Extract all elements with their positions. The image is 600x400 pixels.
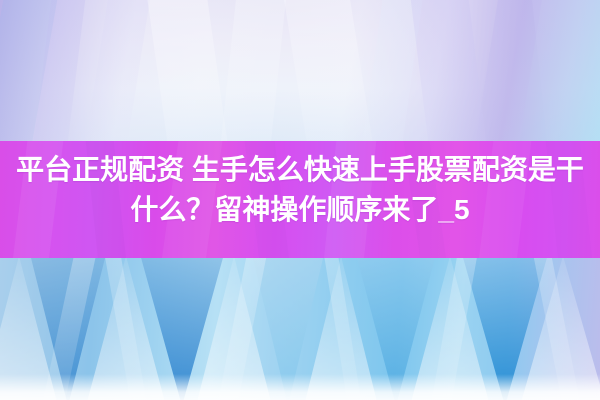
banner-image: 平台正规配资 生手怎么快速上手股票配资是干什么？留神操作顺序来了_5 xyxy=(0,0,600,400)
top-gradient-region xyxy=(0,0,600,142)
headline-text: 平台正规配资 生手怎么快速上手股票配资是干什么？留神操作顺序来了_5 xyxy=(0,141,600,230)
bottom-chevron-region xyxy=(0,258,600,400)
bottom-white-fade xyxy=(0,374,600,400)
headline-band: 平台正规配资 生手怎么快速上手股票配资是干什么？留神操作顺序来了_5 xyxy=(0,141,600,258)
